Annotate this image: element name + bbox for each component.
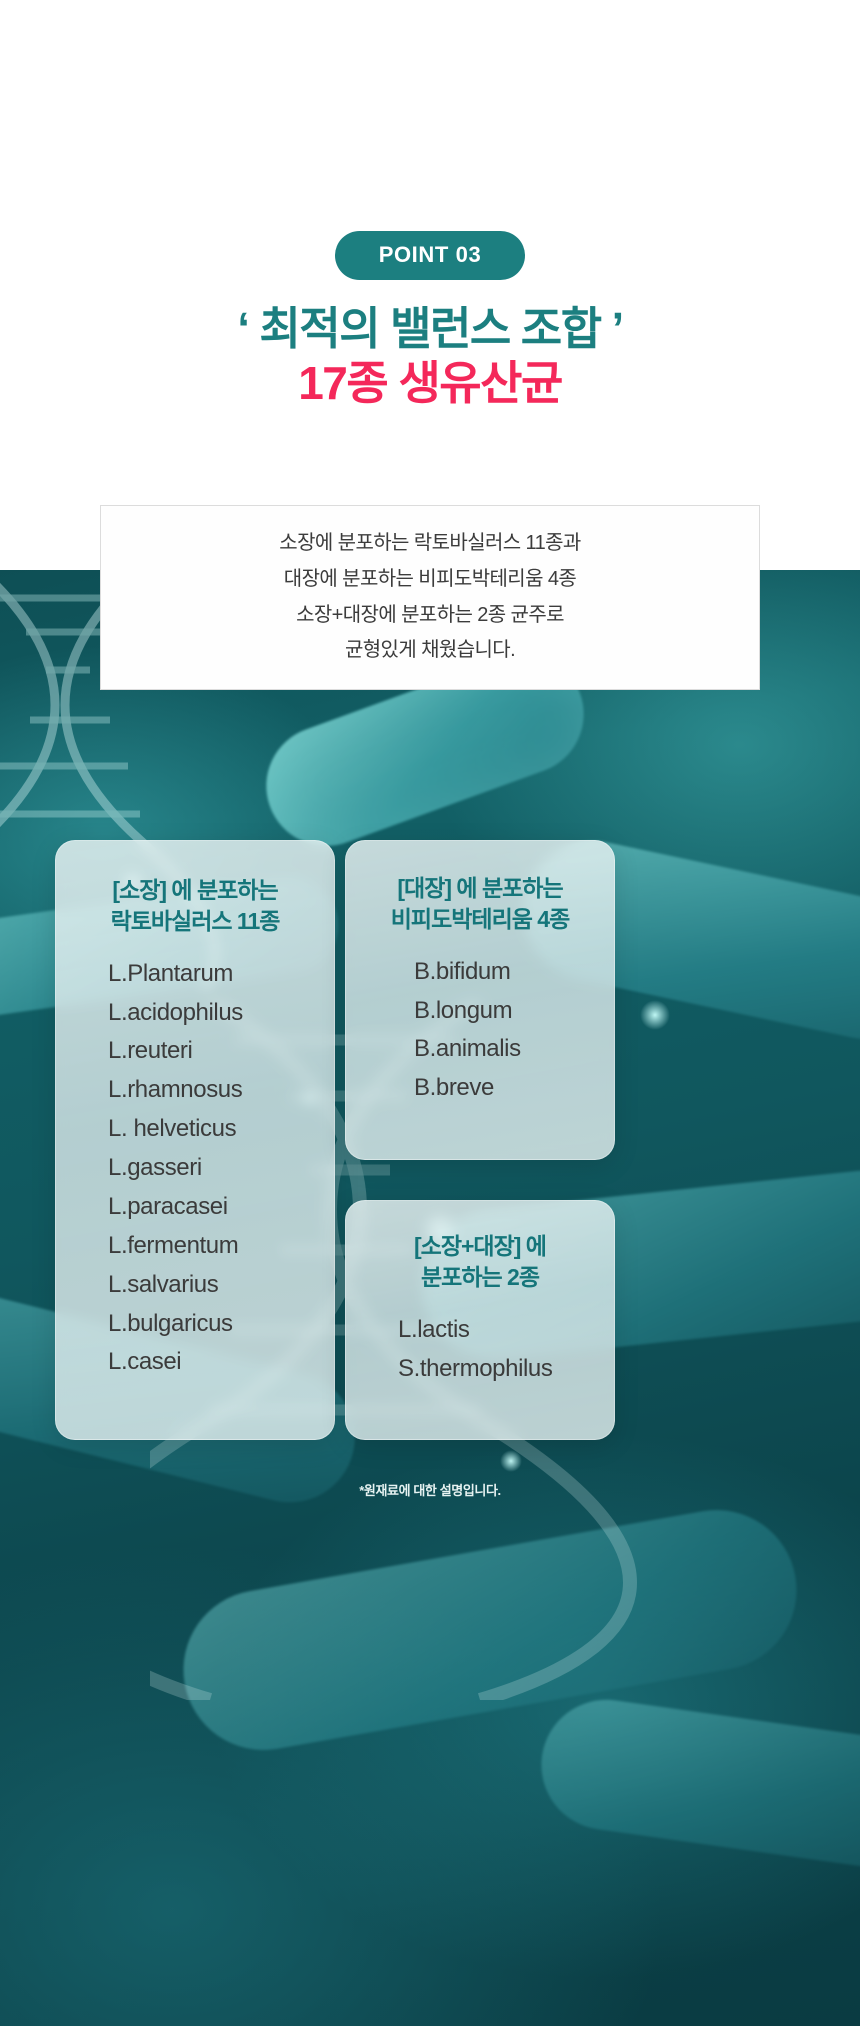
card-title: [대장] 에 분포하는 비피도박테리움 4종 (346, 841, 614, 935)
description-box: 소장에 분포하는 락토바실러스 11종과 대장에 분포하는 비피도박테리움 4종… (100, 505, 760, 690)
headline-primary: ‘ 최적의 밸런스 조합 ’ (0, 304, 860, 354)
header-section: POINT 03 ‘ 최적의 밸런스 조합 ’ 17종 생유산균 (0, 0, 860, 410)
strain-item: L. helveticus (108, 1110, 334, 1149)
strain-item: L.reuteri (108, 1032, 334, 1071)
headline-secondary: 17종 생유산균 (0, 358, 860, 410)
strain-item: L.bulgaricus (108, 1305, 334, 1344)
strain-item: S.thermophilus (398, 1350, 614, 1389)
strain-list: L.Plantarum L.acidophilus L.reuteri L.rh… (56, 955, 334, 1383)
description-line: 소장+대장에 분포하는 2종 균주로 (296, 598, 564, 634)
strain-item: L.lactis (398, 1311, 614, 1350)
description-line: 소장에 분포하는 락토바실러스 11종과 (279, 526, 580, 562)
bacteria-rod-icon (533, 1691, 860, 1878)
strain-item: L.Plantarum (108, 955, 334, 994)
strain-item: B.longum (414, 992, 614, 1031)
strain-item: L.rhamnosus (108, 1071, 334, 1110)
card-both-intestines: [소장+대장] 에 분포하는 2종 L.lactis S.thermophilu… (345, 1200, 615, 1440)
strain-list: L.lactis S.thermophilus (346, 1311, 614, 1389)
card-title-line2: 비피도박테리움 4종 (346, 904, 614, 935)
card-title: [소장+대장] 에 분포하는 2종 (346, 1201, 614, 1293)
strain-item: L.fermentum (108, 1227, 334, 1266)
light-bokeh-icon (500, 1450, 522, 1472)
card-title-line1: [소장+대장] 에 (346, 1231, 614, 1262)
card-title: [소장] 에 분포하는 락토바실러스 11종 (56, 841, 334, 937)
strain-item: B.animalis (414, 1030, 614, 1069)
description-line: 균형있게 채웠습니다. (345, 633, 515, 669)
strain-item: L.paracasei (108, 1188, 334, 1227)
description-line: 대장에 분포하는 비피도박테리움 4종 (284, 562, 576, 598)
card-title-line2: 분포하는 2종 (346, 1262, 614, 1293)
strain-list: B.bifidum B.longum B.animalis B.breve (346, 953, 614, 1109)
page-root: POINT 03 ‘ 최적의 밸런스 조합 ’ 17종 생유산균 소장에 분포하… (0, 0, 860, 2026)
strain-item: L.salvarius (108, 1266, 334, 1305)
strain-item: L.gasseri (108, 1149, 334, 1188)
card-title-line2: 락토바실러스 11종 (56, 906, 334, 937)
footnote-text: *원재료에 대한 설명입니다. (0, 1480, 860, 1499)
strain-item: L.acidophilus (108, 994, 334, 1033)
light-bokeh-icon (640, 1000, 670, 1030)
card-large-intestine: [대장] 에 분포하는 비피도박테리움 4종 B.bifidum B.longu… (345, 840, 615, 1160)
strain-item: B.bifidum (414, 953, 614, 992)
card-small-intestine: [소장] 에 분포하는 락토바실러스 11종 L.Plantarum L.aci… (55, 840, 335, 1440)
strain-item: L.casei (108, 1343, 334, 1382)
strain-item: B.breve (414, 1069, 614, 1108)
point-badge: POINT 03 (335, 231, 526, 280)
card-title-line1: [소장] 에 분포하는 (56, 875, 334, 906)
card-title-line1: [대장] 에 분포하는 (346, 873, 614, 904)
